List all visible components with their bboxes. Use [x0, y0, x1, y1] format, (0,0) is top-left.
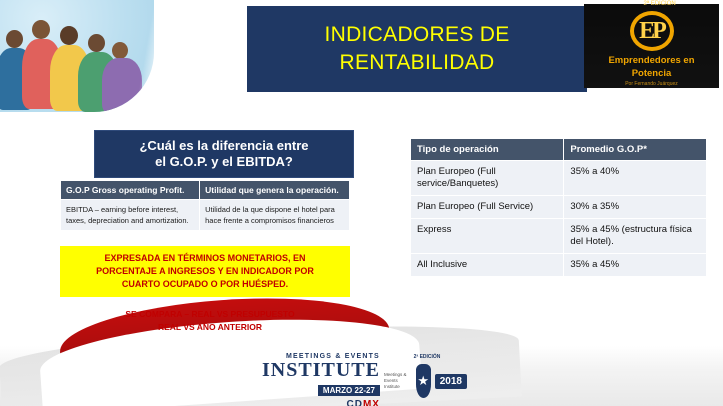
comparison-line-2: REAL VS AÑO ANTERIOR [72, 321, 348, 334]
photo-fade-overlay [0, 0, 260, 120]
definitions-header-gop: G.O.P Gross operating Profit. [61, 181, 200, 200]
definitions-header-utilidad: Utilidad que genera la operación. [200, 181, 350, 200]
table-row: Plan Europeo (Full service/Banquetes) 35… [411, 161, 707, 196]
edition-badge-label: 2ª EDICIÓN [644, 1, 676, 7]
question-line-1: ¿Cuál es la diferencia entre [139, 138, 308, 154]
question-line-2: el G.O.P. y el EBITDA? [139, 154, 308, 170]
logo-city-cd: CD [346, 399, 362, 406]
logo-city-mx: MX [363, 399, 380, 406]
table-row: EBITDA – earning before interest, taxes,… [61, 200, 350, 231]
highlight-line-2: PORCENTAJE A INGRESOS Y EN INDICADOR POR [66, 265, 344, 278]
comparison-line-1: SE COMPARA – REAL VS PRESUPUESTO [72, 308, 348, 321]
comparison-note: SE COMPARA – REAL VS PRESUPUESTO REAL VS… [72, 308, 348, 334]
gop-cell-promedio: 30% a 35% [564, 196, 707, 219]
gop-cell-tipo: All Inclusive [411, 254, 564, 277]
ep-monogram-icon: 2ª EDICIÓN EP [624, 9, 680, 53]
question-callout: ¿Cuál es la diferencia entre el G.O.P. y… [94, 130, 354, 178]
logo-tagline: Por Fernando Juárquez [625, 81, 678, 87]
gop-cell-tipo: Plan Europeo (Full service/Banquetes) [411, 161, 564, 196]
definitions-cell-ebitda: EBITDA – earning before interest, taxes,… [61, 200, 200, 231]
title-line-2: RENTABILIDAD [340, 49, 495, 77]
table-header-row: G.O.P Gross operating Profit. Utilidad q… [61, 181, 350, 200]
gop-header-tipo: Tipo de operación [411, 139, 564, 161]
logo-institute-label: INSTITUTE [262, 360, 380, 380]
gop-cell-promedio: 35% a 40% [564, 161, 707, 196]
gop-cell-tipo: Plan Europeo (Full Service) [411, 196, 564, 219]
table-header-row: Tipo de operación Promedio G.O.P* [411, 139, 707, 161]
gop-average-table: Tipo de operación Promedio G.O.P* Plan E… [410, 138, 707, 277]
logo-city-label: CDMX [262, 399, 380, 406]
table-row: Express 35% a 45% (estructura física del… [411, 219, 707, 254]
table-row: Plan Europeo (Full Service) 30% a 35% [411, 196, 707, 219]
slide-title: INDICADORES DE RENTABILIDAD [247, 6, 587, 92]
definitions-table: G.O.P Gross operating Profit. Utilidad q… [60, 180, 350, 231]
logo-year-label: 2018 [435, 374, 467, 389]
logo-fine-print: Meetings & Events Institute [384, 372, 412, 390]
shield-icon: 2ª EDICIÓN ★ [416, 364, 431, 398]
logo-dates-label: MARZO 22-27 [318, 385, 380, 396]
meetings-events-institute-logo: MEETINGS & EVENTS INSTITUTE MARZO 22-27 … [262, 358, 467, 404]
title-line-1: INDICADORES DE [324, 21, 509, 49]
gop-cell-promedio: 35% a 45% [564, 254, 707, 277]
logo-edition-badge: 2ª EDICIÓN [414, 354, 441, 360]
gop-cell-tipo: Express [411, 219, 564, 254]
highlight-line-1: EXPRESADA EN TÉRMINOS MONETARIOS, EN [66, 252, 344, 265]
gop-header-promedio: Promedio G.O.P* [564, 139, 707, 161]
ep-letters: EP [624, 9, 680, 53]
logo-name-line-1: Emprendedores en [608, 55, 694, 66]
slide-canvas: INDICADORES DE RENTABILIDAD 2ª EDICIÓN E… [0, 0, 723, 406]
definitions-cell-utilidad: Utilidad de la que dispone el hotel para… [200, 200, 350, 231]
highlight-callout: EXPRESADA EN TÉRMINOS MONETARIOS, EN POR… [60, 246, 350, 297]
table-row: All Inclusive 35% a 45% [411, 254, 707, 277]
logo-text-block: MEETINGS & EVENTS INSTITUTE MARZO 22-27 … [262, 353, 380, 406]
logo-emprendedores-en-potencia: 2ª EDICIÓN EP Emprendedores en Potencia … [584, 4, 719, 88]
gop-cell-promedio: 35% a 45% (estructura física del Hotel). [564, 219, 707, 254]
logo-name-line-2: Potencia [632, 68, 672, 79]
highlight-line-3: CUARTO OCUPADO O POR HUÉSPED. [66, 278, 344, 291]
